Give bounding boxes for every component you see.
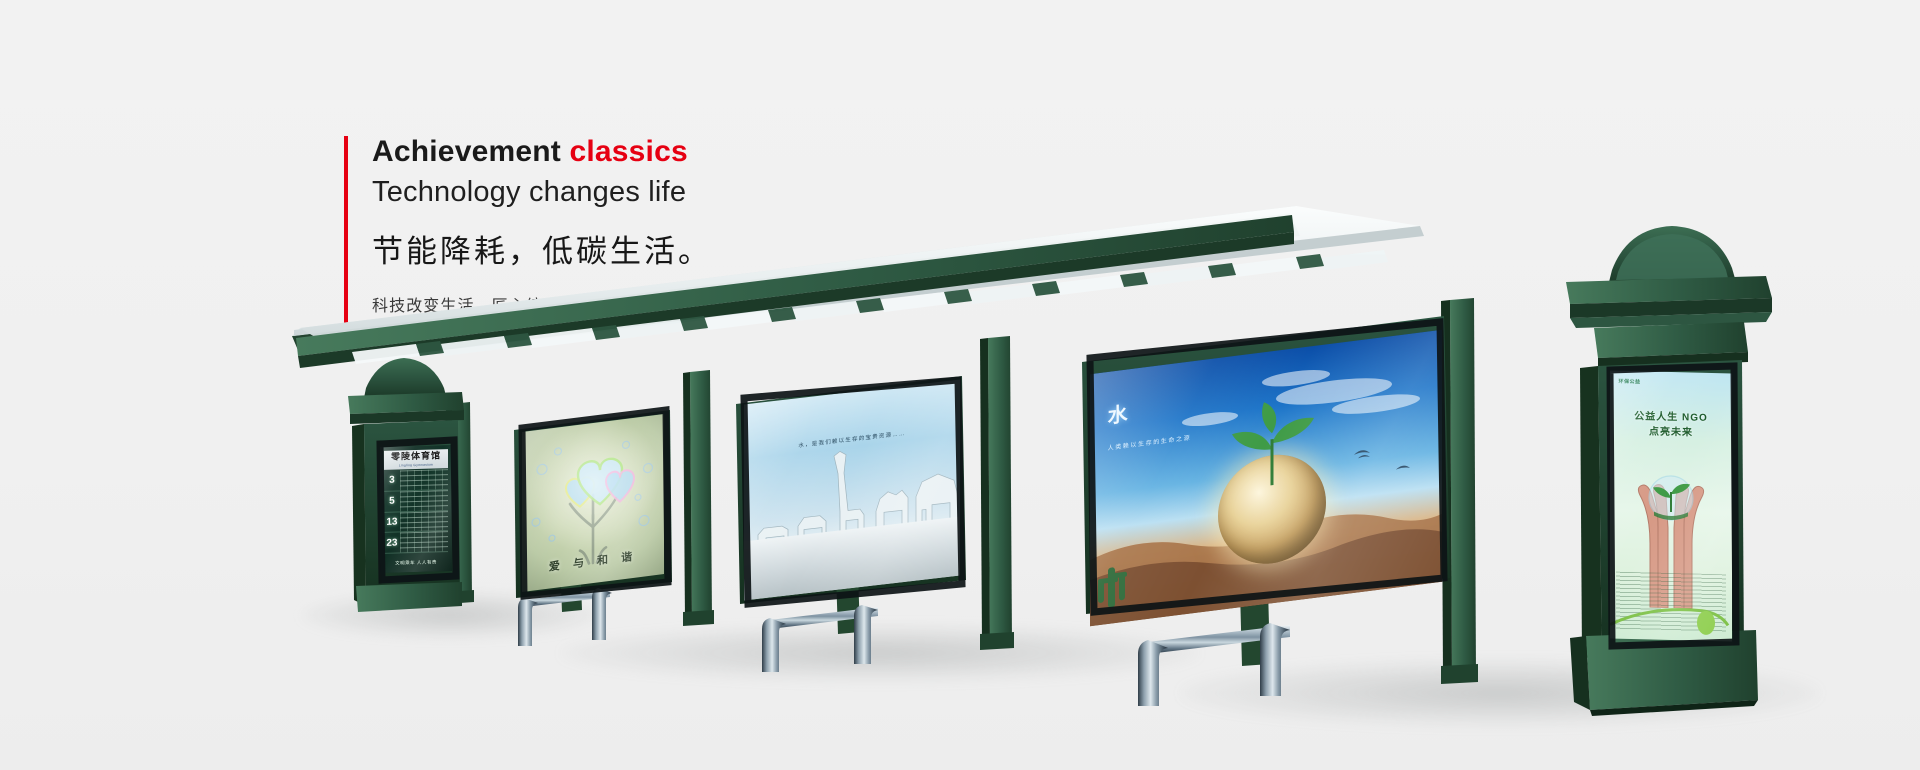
column-2 xyxy=(690,370,712,622)
ngo-leaf-ribbon xyxy=(1610,579,1732,642)
ngo-heading: 公益人生 NGO 点亮未来 xyxy=(1615,408,1727,441)
tower-neck xyxy=(1594,322,1748,358)
route-number: 23 xyxy=(384,537,399,548)
timetable-route-list: 3 5 13 23 xyxy=(384,469,447,554)
kiosk-base xyxy=(356,582,462,612)
route-stops-strip xyxy=(400,490,448,511)
product-render-canvas: Achievement classics Technology changes … xyxy=(0,0,1920,770)
column-3 xyxy=(988,336,1012,646)
timetable-header: 零陵体育馆 Lingling Gymnasium xyxy=(384,449,447,470)
sprout-icon xyxy=(1202,388,1342,496)
panel-animals[interactable]: 水，是我们赖以生存的宝贵资源…… xyxy=(744,380,960,601)
bench-3 xyxy=(1138,623,1290,706)
bench-1 xyxy=(518,588,612,646)
route-number: 3 xyxy=(384,475,399,486)
timetable-footer: 文明乘车 人人有责 xyxy=(384,555,447,571)
tower-base xyxy=(1586,630,1758,710)
route-stops-strip xyxy=(400,531,448,552)
table-row[interactable]: 3 xyxy=(384,469,447,492)
bus-shelter-illustration: 零陵体育馆 Lingling Gymnasium 3 5 13 23 xyxy=(0,0,1920,770)
table-row[interactable]: 5 xyxy=(384,490,447,513)
route-stops-strip xyxy=(400,511,448,532)
timetable-station-subtitle: Lingling Gymnasium xyxy=(399,462,433,467)
roof-front-beam xyxy=(296,215,1294,356)
route-stops-strip xyxy=(400,469,448,490)
ngo-heading-line2: 点亮未来 xyxy=(1615,423,1727,441)
route-number: 13 xyxy=(384,516,399,527)
kiosk-arch-cap xyxy=(364,358,446,398)
ngo-logo-text: 环保公益 xyxy=(1619,377,1641,385)
route-number: 5 xyxy=(384,496,399,507)
column-4 xyxy=(1450,298,1476,680)
panel-heart-tree[interactable]: 爱 与 和 谐 xyxy=(522,414,664,592)
bird-icons xyxy=(1354,444,1410,475)
panel-water[interactable]: 水 人类赖以生存的生命之源 xyxy=(1090,330,1442,626)
table-row[interactable]: 13 xyxy=(384,511,447,534)
timetable-footer-text: 文明乘车 人人有责 xyxy=(395,559,437,566)
table-row[interactable]: 23 xyxy=(384,531,447,554)
timetable-station-title: 零陵体育馆 xyxy=(391,451,441,461)
bench-2 xyxy=(762,605,878,672)
panel-ngo[interactable]: 环保公益 公益人生 NGO 点亮未来 xyxy=(1610,371,1732,642)
panel-timetable[interactable]: 零陵体育馆 Lingling Gymnasium 3 5 13 23 xyxy=(380,445,452,573)
